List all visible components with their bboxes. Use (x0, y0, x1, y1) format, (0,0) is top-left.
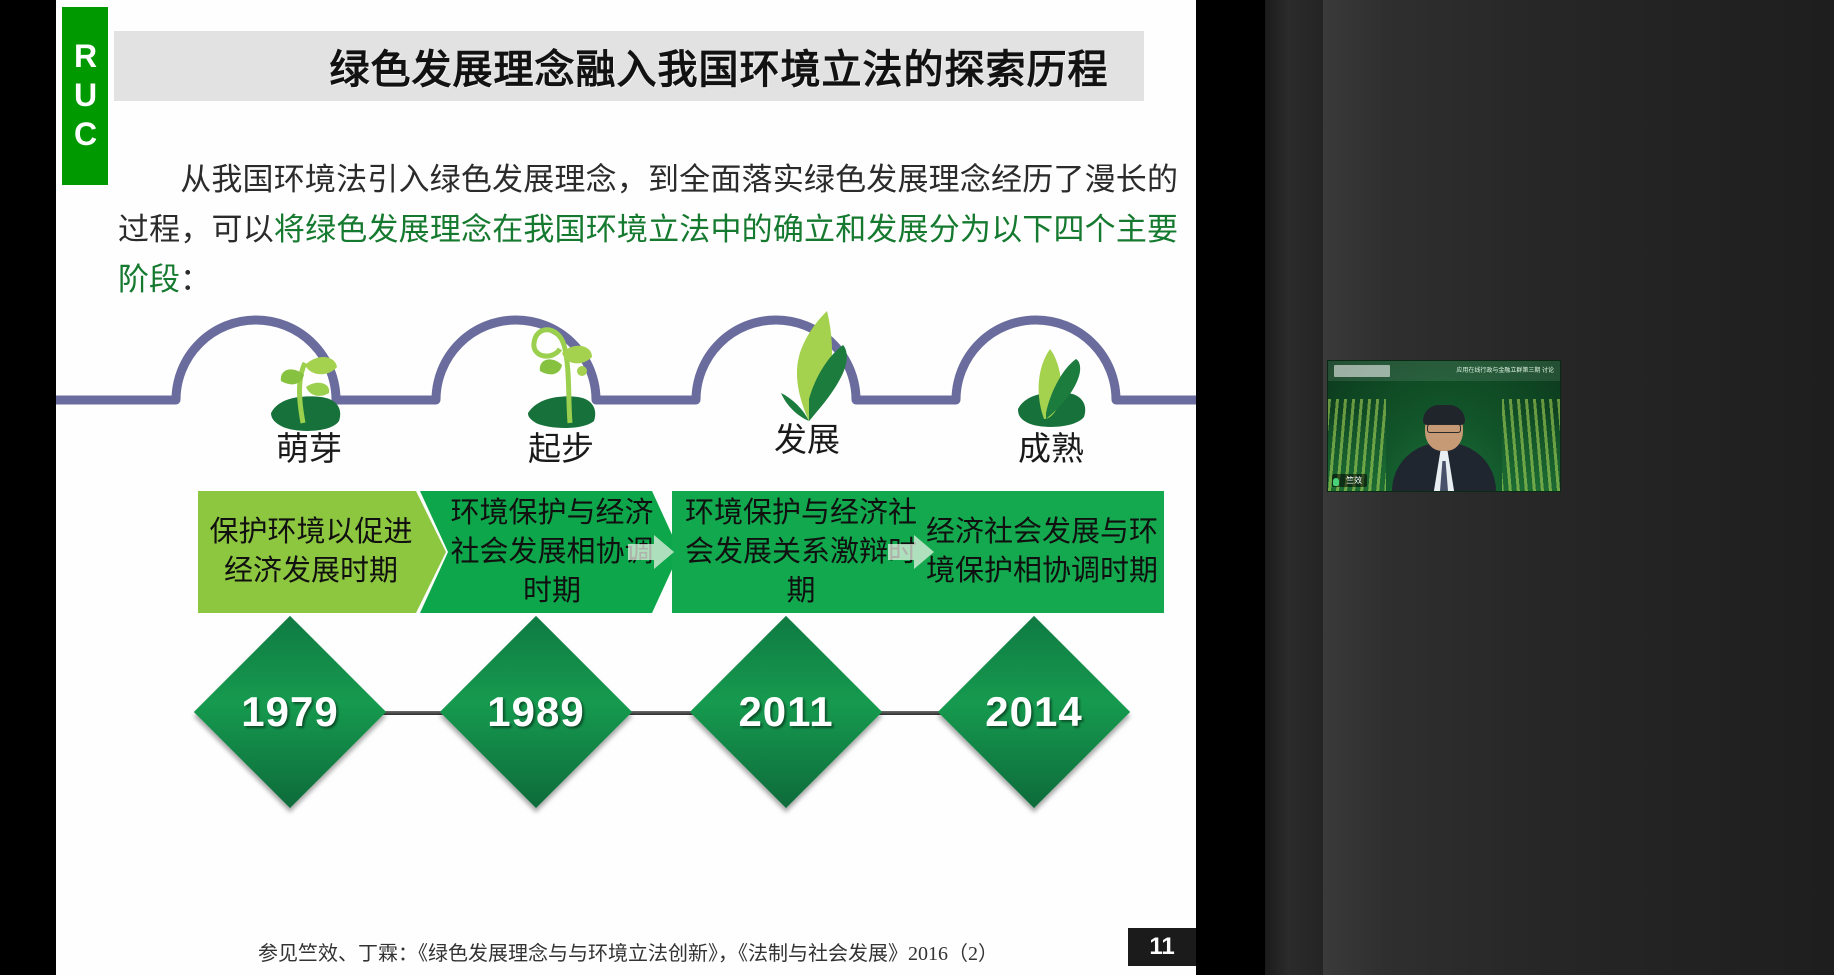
left-black-margin (0, 0, 56, 975)
screen-root: RUC 绿色发展理念融入我国环境立法的探索历程 从我国环境法引入绿色发展理念，到… (0, 0, 1834, 975)
year-diamond-1979[interactable]: 1979 (194, 616, 386, 808)
year-label-0: 1979 (222, 644, 358, 780)
ruc-logo-badge: RUC (62, 7, 108, 185)
phase-segment-3-label: 经济社会发展与环境保护相协调时期 (920, 513, 1164, 591)
presentation-sidebar-strip (1265, 0, 1323, 975)
slide-right-gap (1196, 0, 1266, 975)
year-diamond-2014[interactable]: 2014 (938, 616, 1130, 808)
slide-title-bar: 绿色发展理念融入我国环境立法的探索历程 (114, 31, 1144, 101)
participant-video-tile[interactable]: 应用在线行政与金融立群第三期 讨论 竺效 (1327, 360, 1561, 492)
page-title: 绿色发展理念融入我国环境立法的探索历程 (150, 37, 1109, 95)
year-label-3: 2014 (966, 644, 1102, 780)
year-diamond-2011[interactable]: 2011 (690, 616, 882, 808)
video-decoration-grass-right (1502, 399, 1560, 491)
stage-label-1: 起步 (496, 422, 626, 470)
slide-footnote: 参见竺效、丁霖：《绿色发展理念与与环境立法创新》，《法制与社会发展》2016（2… (118, 937, 1138, 966)
slide-canvas: RUC 绿色发展理念融入我国环境立法的探索历程 从我国环境法引入绿色发展理念，到… (56, 0, 1196, 975)
stage-label-2: 发展 (742, 413, 872, 461)
right-arrow-icon (888, 535, 934, 569)
body-line-2-emphasis: 将绿色发展理念在我国环境立法中的确立和发展分为以下四个主要阶段 (118, 212, 1178, 297)
participant-hair (1423, 405, 1465, 425)
year-label-2: 2011 (718, 644, 854, 780)
video-banner-text: 应用在线行政与金融立群第三期 讨论 (1456, 365, 1554, 374)
phase-segment-0[interactable]: 保护环境以促进经济发展时期 (198, 491, 446, 613)
slide-page-number: 11 (1128, 928, 1196, 966)
participant-figure (1392, 405, 1496, 491)
year-diamond-1989[interactable]: 1989 (440, 616, 632, 808)
microphone-icon (1333, 478, 1339, 486)
year-timeline: 1979 1989 2011 2014 (196, 640, 1176, 800)
sprout-curl-icon (508, 313, 608, 438)
slide-body-text: 从我国环境法引入绿色发展理念，到全面落实绿色发展理念经历了漫长的过程，可以将绿色… (118, 155, 1178, 305)
stage-label-3: 成熟 (986, 422, 1116, 470)
phase-segment-0-label: 保护环境以促进经济发展时期 (198, 513, 446, 591)
university-logo-icon (1334, 365, 1390, 377)
body-line-2-suffix: ： (180, 262, 211, 297)
phase-band: 保护环境以促进经济发展时期 环境保护与经济社会发展相协调时期 环境保护与经济社会… (198, 491, 1164, 613)
participant-glasses (1427, 424, 1461, 433)
ruc-logo-text: RUC (67, 38, 104, 155)
year-label-1: 1989 (468, 644, 604, 780)
stage-label-0: 萌芽 (244, 422, 374, 470)
right-arrow-icon (628, 535, 674, 569)
body-line-2-prefix: 可以 (212, 212, 274, 247)
phase-segment-3[interactable]: 经济社会发展与环境保护相协调时期 (920, 491, 1164, 613)
